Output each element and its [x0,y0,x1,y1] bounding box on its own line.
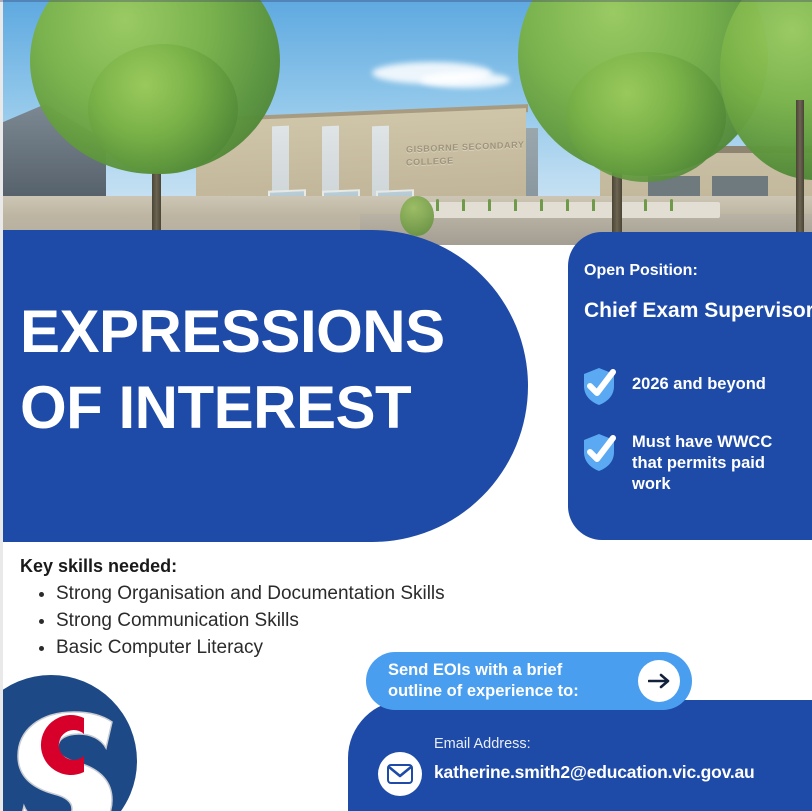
requirement-text: 2026 and beyond [632,366,812,395]
contact-band: Email Address: katherine.smith2@educatio… [348,700,812,811]
headline-capsule: EXPRESSIONS OF INTEREST [0,230,528,542]
check-shield-icon [580,366,618,406]
garden-bed [420,202,720,218]
open-position-panel: Open Position: Chief Exam Supervisor 202… [568,232,812,540]
plant [540,199,543,211]
skills-list: Strong Organisation and Documentation Sk… [36,580,445,661]
email-address-value[interactable]: katherine.smith2@education.vic.gov.au [434,762,755,783]
requirement-item: Must have WWCC that permits paid work [580,432,812,495]
eoi-flyer: GISBORNE SECONDARY COLLEGE EXPRESSIONS O… [0,0,812,811]
top-edge-strip [0,0,812,2]
skills-heading: Key skills needed: [20,556,177,577]
plant [566,199,569,211]
arrow-right-icon[interactable] [638,660,680,702]
send-eoi-cta[interactable]: Send EOIs with a brief outline of experi… [366,652,692,710]
check-shield-icon [580,432,618,472]
send-eoi-text: Send EOIs with a brief outline of experi… [388,660,606,702]
envelope-icon [378,752,422,796]
left-edge-strip [0,0,3,811]
tree-canopy [566,52,726,182]
plant [488,199,491,211]
email-address-label: Email Address: [434,736,531,752]
plant [514,199,517,211]
gisborne-secondary-college-logo [0,672,140,811]
plant [436,199,439,211]
tree-trunk [796,100,804,245]
cloud [420,72,510,88]
role-title: Chief Exam Supervisor [584,299,812,323]
shrub [400,196,434,236]
list-item: Strong Organisation and Documentation Sk… [56,580,445,607]
plant [670,199,673,211]
list-item: Strong Communication Skills [56,607,445,634]
page-title: EXPRESSIONS OF INTEREST [20,294,445,446]
plant [462,199,465,211]
open-position-label: Open Position: [584,262,698,280]
requirement-text: Must have WWCC that permits paid work [632,432,812,495]
building-sign-text: GISBORNE SECONDARY COLLEGE [406,139,524,170]
plant [644,199,647,211]
hero-photo: GISBORNE SECONDARY COLLEGE [0,0,812,245]
requirement-item: 2026 and beyond [580,366,812,406]
tree-canopy [88,44,238,174]
plant [592,199,595,211]
